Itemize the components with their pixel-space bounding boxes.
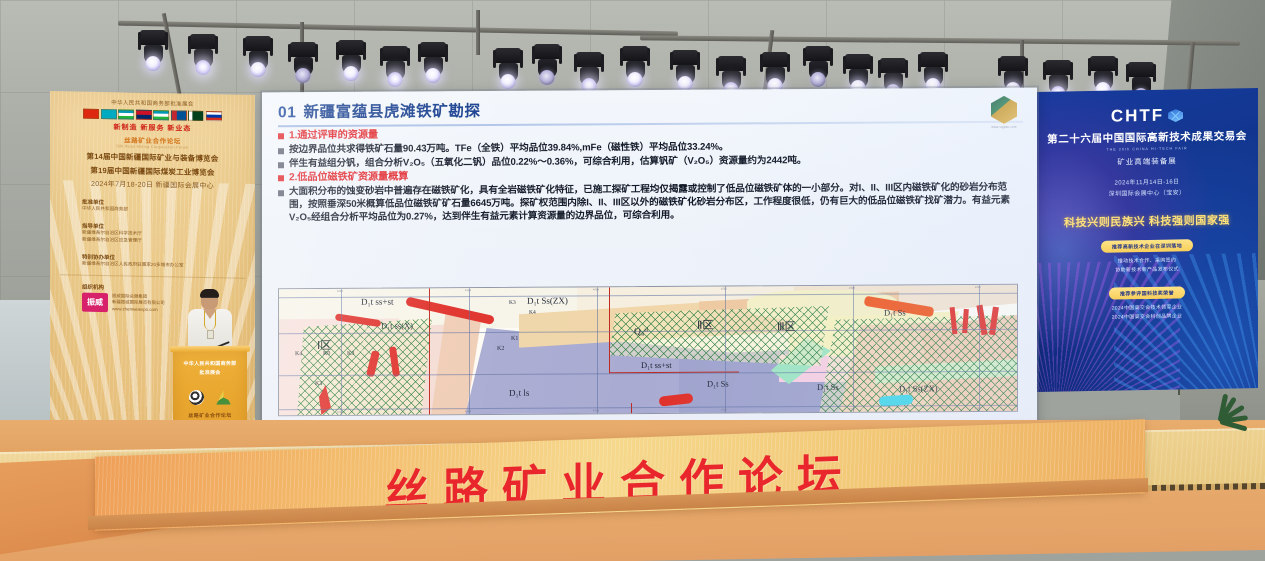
bullet-square-icon [278, 133, 284, 139]
conference-stage-photo: 中华人民共和国商务部批准展会 新制造 新服务 新业态 丝路矿业合作论坛 Silk… [0, 0, 1265, 561]
bullet-row: 大面积分布的蚀变砂岩中普遍存在磁铁矿化，具有全岩磁铁矿化特征，已施工探矿工程均仅… [278, 182, 1023, 225]
stage-light [420, 42, 446, 76]
podium-line-1: 中华人民共和国商务部 [173, 360, 247, 368]
map-orebody-label: K4 [529, 310, 536, 316]
stage-light [338, 40, 364, 74]
map-zone-label: Ⅲ区 [777, 318, 796, 334]
truss-support-pole-3 [476, 10, 480, 55]
map-orebody-label: K3 [315, 381, 322, 387]
country-flags [60, 108, 245, 122]
map-axis-tick: 4715 [721, 288, 727, 291]
map-unit-label: D₁t ss+st [641, 360, 672, 370]
chtf-date-venue: 2024年11月14日-16日 深圳国际会展中心（宝安） [1046, 176, 1248, 202]
map-gridline [597, 287, 598, 415]
poster-section-body: 新疆维吾尔自治区科学技术厅 新疆维吾尔自治区应急管理厅 [60, 229, 245, 246]
stage-light [762, 52, 788, 86]
concession-boundary [609, 287, 610, 373]
map-orebody-label: K4 [295, 351, 302, 357]
chtf-venue: 深圳国际会展中心（宝安） [1046, 187, 1248, 202]
hexagon-logo-icon [991, 96, 1017, 124]
stage-light [534, 44, 560, 78]
stage-light [622, 46, 648, 80]
slide-logo-url: www.sigpku.com [987, 125, 1021, 129]
chtf-wordmark: CHTF [1111, 106, 1164, 127]
map-unit-label: D₁t Ss [707, 379, 729, 389]
map-unit-label: D₁t Ss(ZX) [527, 295, 568, 305]
stage-light [576, 52, 602, 86]
slide-title: 01 新疆富蕴县虎滩铁矿勘探 [278, 96, 1023, 123]
bullet-text: 2.低品位磁铁矿资源量概算 [289, 171, 408, 185]
stage-light [190, 34, 216, 68]
chtf-pill-2: 推荐参评国科技奖荣誉 [1109, 287, 1185, 300]
podium-line-2: 批准展会 [173, 369, 247, 377]
map-unit-label: D₁t Ss(ZX) [899, 383, 938, 393]
map-zone-label: Ⅱ区 [697, 317, 713, 333]
map-unit-label: D₁t Ss [817, 382, 839, 392]
poster-expo-line-2: 第19届中国新疆国际煤炭工业博览会 [60, 164, 245, 179]
map-orebody-label: K3 [509, 300, 516, 306]
map-axis-tick: 4717 [975, 407, 981, 410]
poster-gov-line: 中华人民共和国商务部批准展会 [60, 97, 245, 109]
map-unit-label: D₁t Ss [884, 307, 906, 317]
stage-light [718, 56, 744, 90]
podium-footer: 丝路矿业合作论坛 [173, 412, 247, 420]
chtf-subtitle: 矿业高端装备展 [1046, 154, 1248, 169]
map-axis-tick: 4717 [975, 286, 981, 289]
map-gridline [469, 288, 470, 416]
stage-light [920, 52, 946, 86]
poster-section: 指导单位 新疆维吾尔自治区科学技术厅 新疆维吾尔自治区应急管理厅 [60, 221, 245, 246]
stage-light [290, 42, 316, 76]
map-unit-label: D₁t ss(X) [381, 320, 413, 330]
glasses-icon [202, 297, 217, 301]
map-axis-tick: 4712 [337, 290, 343, 293]
concession-boundary [631, 403, 632, 415]
poster-slogan: 新制造 新服务 新业态 [60, 121, 245, 135]
bullet-text: 1.通过评审的资源量 [289, 129, 378, 143]
concession-boundary [429, 288, 430, 416]
bullet-square-icon [278, 176, 284, 182]
map-axis-tick: 4712 [337, 411, 343, 414]
poster-expo-line-1: 第14届中国新疆国际矿业与装备博览会 [60, 150, 245, 165]
map-axis-tick: 4715 [721, 409, 727, 412]
stage-light [1000, 56, 1026, 90]
map-unit-label: D₁t ls [509, 388, 529, 398]
map-axis-tick: 4714 [593, 409, 599, 412]
stage-light [805, 46, 831, 80]
stage-light [495, 48, 521, 82]
right-led-banner: CHTF 第二十六届中国国际高新技术成果交易会 THE 26th CHINA H… [1036, 88, 1258, 392]
chtf-pill-1: 推荐高新技术企业在深圳落地 [1101, 239, 1193, 253]
poster-section: 批准单位 中华人民共和国商务部 [60, 197, 245, 215]
slide-title-text: 新疆富蕴县虎滩铁矿勘探 [303, 99, 480, 122]
podium-top [170, 346, 250, 353]
map-orebody-label: K1 [511, 336, 518, 342]
geological-map: D₁t ss+st D₁t Ss(ZX) D₁t ss(X) D₁t Ss D₁… [278, 284, 1018, 417]
organizer-website: www.zhenweiexpo.com [112, 306, 165, 314]
poster-date-venue: 2024年7月18-20日 新疆国际会展中心 [60, 178, 245, 192]
map-orebody-label: K2 [497, 346, 504, 352]
stage-light [672, 50, 698, 84]
map-gridline [979, 285, 980, 413]
slide-content: www.sigpku.com 01 新疆富蕴县虎滩铁矿勘探 1.通过评审的资源量… [262, 88, 1037, 445]
coal-emblem-icon [216, 390, 231, 405]
map-axis-tick: 4716 [849, 287, 855, 290]
podium-emblems [173, 390, 247, 406]
badge [207, 330, 214, 339]
map-axis-tick: 4713 [465, 289, 471, 292]
bullet-square-icon [278, 162, 284, 168]
map-unit-label: D₁t ss+st [361, 297, 393, 307]
bullet-square-icon [278, 148, 284, 154]
presentation-screen: www.sigpku.com 01 新疆富蕴县虎滩铁矿勘探 1.通过评审的资源量… [262, 88, 1037, 445]
poster-divider [60, 274, 245, 279]
map-axis-tick: 4713 [465, 410, 471, 413]
bullet-text: 大面积分布的蚀变砂岩中普遍存在磁铁矿化，具有全岩磁铁矿化特征，已施工探矿工程均仅… [289, 182, 1023, 225]
chtf-line: 协助新技术新产品发布仪式 [1046, 265, 1248, 278]
cube-icon [1168, 109, 1183, 122]
bullet-text: 按边界品位共求得铁矿石量90.43万吨。TFe（全铁）平均品位39.84%,mF… [289, 141, 728, 157]
map-orebody-label: K0 [323, 351, 330, 357]
slide-bullets: 1.通过评审的资源量 按边界品位共求得铁矿石量90.43万吨。TFe（全铁）平均… [278, 125, 1023, 225]
map-unit-label: Q₄ᵃˡ [634, 327, 648, 337]
stage-light [845, 54, 871, 88]
chtf-logo: CHTF [1111, 105, 1183, 126]
chtf-line: 2024中国高交会科创品牌企业 [1046, 312, 1248, 325]
organizer-text: 振威国际会展集团 新疆振威国际展览有限公司 www.zhenweiexpo.co… [112, 293, 165, 314]
map-gridline [853, 286, 854, 414]
chtf-title-en: THE 26th CHINA HI-TECH FAIR [1046, 145, 1248, 153]
chtf-title: 第二十六届中国国际高新技术成果交易会 [1046, 128, 1248, 147]
poster-section: 特别协办单位 新疆维吾尔自治区人民政府驻属家20多城市办公室 [60, 252, 245, 270]
map-axis-tick: 4714 [593, 288, 599, 291]
map-gridline [725, 287, 726, 415]
decorative-plant [1196, 372, 1256, 430]
stage-light [245, 36, 271, 70]
stage-light [1090, 56, 1116, 90]
mining-emblem-icon [189, 390, 204, 405]
bullet-square-icon [278, 190, 284, 196]
organizer-logo-mark: 振威 [82, 292, 108, 311]
stage-light [382, 46, 408, 80]
chtf-lines-1: 推动技术合作、采购签约 协助新技术新产品发布仪式 [1046, 255, 1248, 278]
stage-light [880, 58, 906, 92]
stage-light [140, 30, 166, 64]
map-axis-tick: 4716 [849, 408, 855, 411]
map-gridline [341, 289, 342, 416]
chtf-slogan: 科技兴则民族兴 科技强则国家强 [1046, 211, 1248, 231]
stage-light [1045, 60, 1071, 94]
chtf-lines-2: 2024中国高交会技术领军企业 2024中国高交会科创品牌企业 [1046, 302, 1248, 325]
slide-number: 01 [278, 104, 296, 122]
slide-corner-logo: www.sigpku.com [987, 96, 1021, 129]
map-orebody-label: K3 [347, 351, 354, 357]
lanyard [204, 311, 216, 330]
